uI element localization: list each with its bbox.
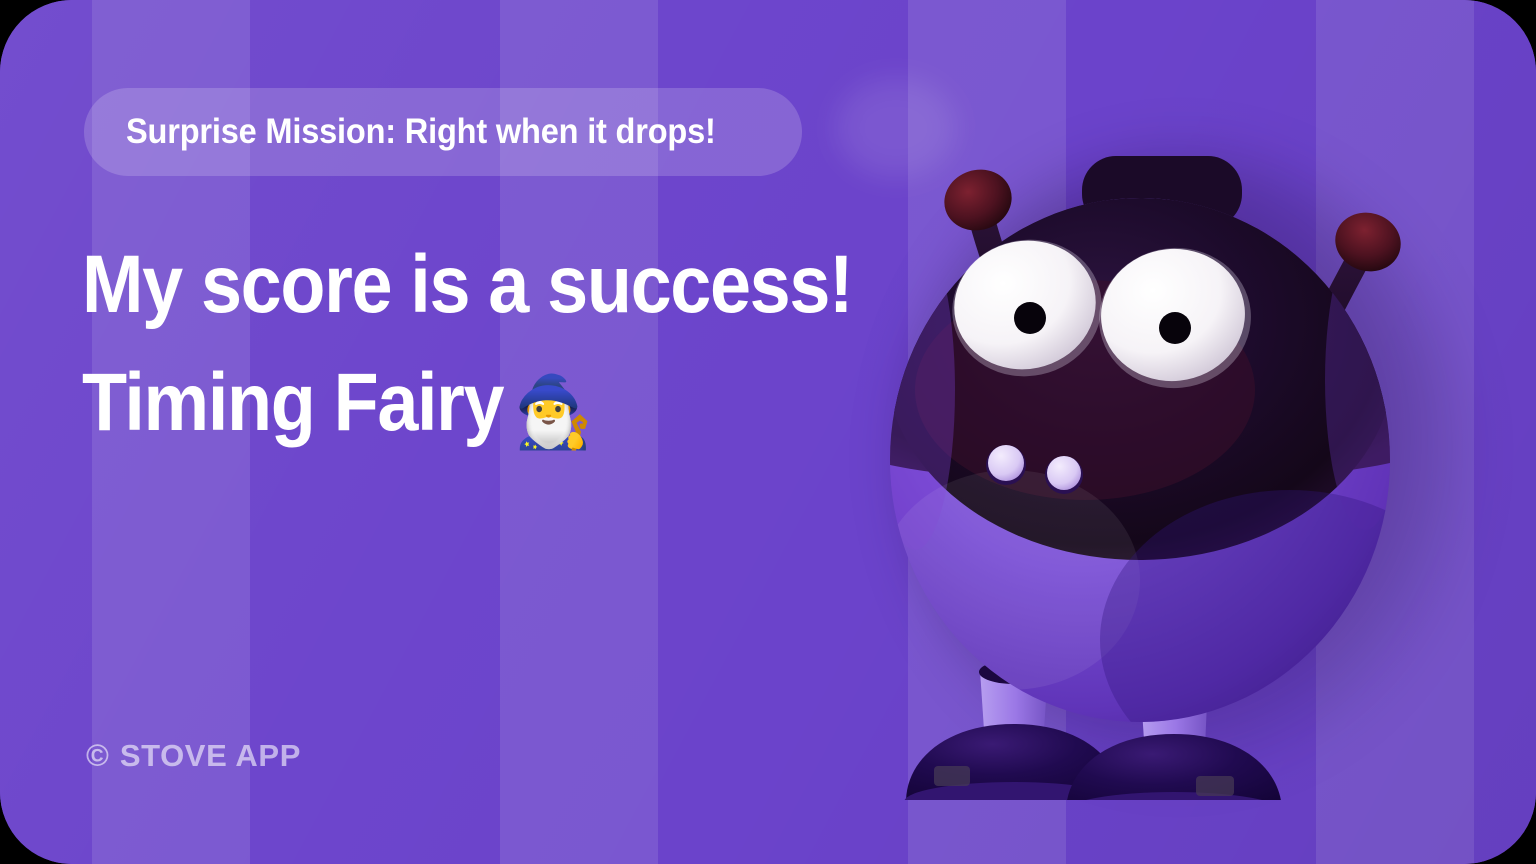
promo-card: Surprise Mission: Right when it drops! M… <box>0 0 1536 864</box>
mage-emoji: 🧙‍♂️ <box>514 377 592 447</box>
mascot-boots <box>904 724 1284 800</box>
content-column: Surprise Mission: Right when it drops! M… <box>0 0 900 864</box>
badge-label: Surprise Mission: Right when it drops! <box>126 112 716 152</box>
copyright-icon: © <box>86 740 109 771</box>
headline-line-1: My score is a success! <box>82 226 811 344</box>
headline-block: My score is a success! Timing Fairy🧙‍♂️ <box>82 226 892 462</box>
brand-label: STOVE APP <box>120 740 301 771</box>
surprise-mission-badge: Surprise Mission: Right when it drops! <box>84 88 802 176</box>
headline-line-2-wrapper: Timing Fairy🧙‍♂️ <box>82 344 811 462</box>
purple-blob-mascot <box>860 60 1420 800</box>
footer-attribution: © STOVE APP <box>86 740 301 771</box>
headline-line-2: Timing Fairy <box>82 357 503 448</box>
